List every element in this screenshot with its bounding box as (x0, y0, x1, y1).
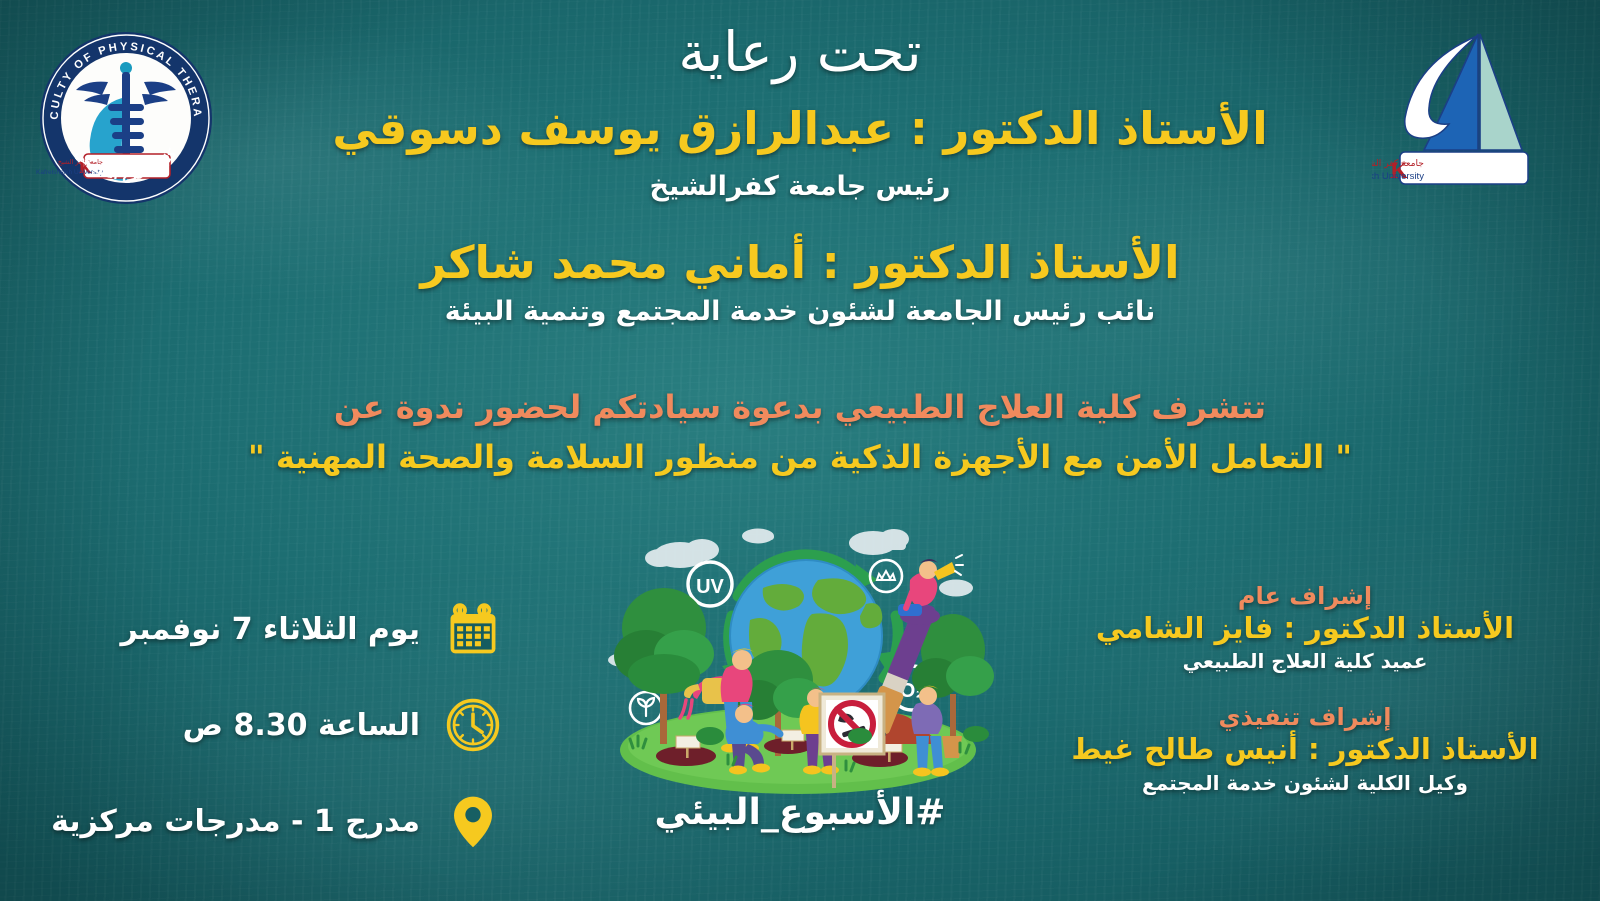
detail-time-text: الساعة 8.30 ص (183, 708, 420, 743)
uv-badge-icon: UV (688, 562, 732, 606)
supervision-executive: إشراف تنفيذي الأستاذ الدكتور : أنيس طالح… (1070, 703, 1540, 794)
invitation-line: تتشرف كلية العلاج الطبيعي بدعوة سيادتكم … (0, 388, 1600, 426)
environment-globe-illustration: UV O₂ (598, 508, 998, 798)
supervision-executive-name: الأستاذ الدكتور : أنيس طالح غيط (1070, 733, 1540, 766)
patron-title: رئيس جامعة كفرالشيخ (0, 171, 1600, 202)
clock-icon (442, 694, 504, 756)
detail-row-time: الساعة 8.30 ص (74, 694, 504, 756)
vice-president-name: الأستاذ الدكتور : أماني محمد شاكر (0, 238, 1600, 288)
seminar-title: " التعامل الأمن مع الأجهزة الذكية من منظ… (0, 438, 1600, 476)
poster-header: تحت رعاية الأستاذ الدكتور : عبدالرازق يو… (0, 24, 1600, 327)
patron-name: الأستاذ الدكتور : عبدالرازق يوسف دسوقي (0, 104, 1600, 154)
vice-president-title: نائب رئيس الجامعة لشئون خدمة المجتمع وتن… (0, 296, 1600, 327)
supervision-general-kicker: إشراف عام (1070, 582, 1540, 610)
hashtag-text: #الأسبوع_البيئي (0, 792, 1600, 833)
supervision-general: إشراف عام الأستاذ الدكتور : فايز الشامي … (1070, 582, 1540, 673)
detail-date-text: يوم الثلاثاء 7 نوفمبر (121, 612, 420, 647)
supervision-general-name: الأستاذ الدكتور : فايز الشامي (1070, 612, 1540, 645)
supervision-executive-kicker: إشراف تنفيذي (1070, 703, 1540, 731)
seminar-poster: K جامعة كفر الشيخ Kafrelsheikh Universit… (0, 0, 1600, 901)
invitation-block: تتشرف كلية العلاج الطبيعي بدعوة سيادتكم … (0, 388, 1600, 476)
event-details: يوم الثلاثاء 7 نوفمبر الساعة 8.30 ص (74, 598, 504, 886)
supervision-general-role: عميد كلية العلاج الطبيعي (1070, 649, 1540, 673)
calendar-icon (442, 598, 504, 660)
supervision-block: إشراف عام الأستاذ الدكتور : فايز الشامي … (1070, 582, 1540, 825)
sprout-badge-icon (630, 692, 662, 724)
svg-text:UV: UV (696, 576, 724, 598)
detail-row-date: يوم الثلاثاء 7 نوفمبر (74, 598, 504, 660)
recycle-badge-icon (870, 560, 902, 592)
under-patronage-title: تحت رعاية (0, 24, 1600, 82)
